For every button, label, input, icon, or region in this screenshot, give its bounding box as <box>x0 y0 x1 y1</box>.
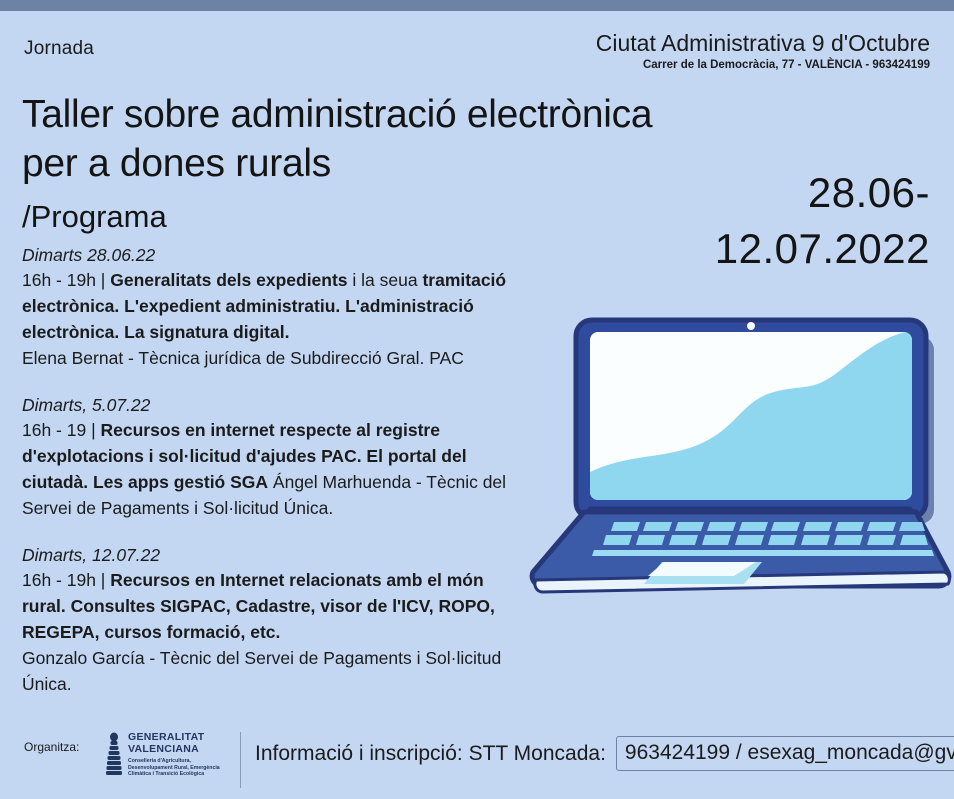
logo-department: Conselleria d'Agricultura, Desenvolupame… <box>128 758 230 778</box>
page-title-line2: per a dones rurals <box>22 142 331 185</box>
session-date: Dimarts, 5.07.22 <box>22 393 512 417</box>
contact-info: Informació i inscripció: STT Moncada: 96… <box>255 736 954 771</box>
organizer-label: Organitza: <box>24 740 79 754</box>
program-session: Dimarts, 5.07.22 16h - 19 | Recursos en … <box>22 393 512 521</box>
session-time: 16h - 19 | <box>22 420 101 440</box>
event-kicker: Jornada <box>24 38 94 60</box>
session-topic-rest: i la seua <box>348 270 418 290</box>
program-heading: /Programa <box>22 199 167 235</box>
webcam-dot <box>747 322 755 330</box>
program-session: Dimarts 28.06.22 16h - 19h | Generalitat… <box>22 243 512 371</box>
page-title-line1: Taller sobre administració electrònica <box>22 93 652 136</box>
footer-divider <box>240 732 241 788</box>
laptop-icon <box>512 300 952 600</box>
program-list: Dimarts 28.06.22 16h - 19h | Generalitat… <box>22 243 512 719</box>
venue-info: Ciutat Administrativa 9 d'Octubre Carrer… <box>596 30 930 73</box>
crest-icon <box>105 732 123 780</box>
session-time: 16h - 19h | <box>22 570 110 590</box>
event-date-end: 12.07.2022 <box>715 225 930 272</box>
session-date: Dimarts, 12.07.22 <box>22 543 512 567</box>
poster-canvas: Jornada Ciutat Administrativa 9 d'Octubr… <box>0 0 954 799</box>
generalitat-valenciana-logo: GENERALITAT VALENCIANA Conselleria d'Agr… <box>105 730 230 790</box>
session-time: 16h - 19h | <box>22 270 110 290</box>
session-speaker: Elena Bernat - Tècnica jurídica de Subdi… <box>22 345 512 371</box>
logo-wordmark: GENERALITAT VALENCIANA Conselleria d'Agr… <box>128 730 230 778</box>
contact-label: Informació i inscripció: STT Moncada: <box>255 739 606 769</box>
program-session: Dimarts, 12.07.22 16h - 19h | Recursos e… <box>22 543 512 697</box>
session-topic: 16h - 19 | Recursos en internet respecte… <box>22 417 512 521</box>
session-topic: 16h - 19h | Generalitats dels expedients… <box>22 267 512 345</box>
session-topic-bold: Generalitats dels expedients <box>110 270 347 290</box>
logo-name-line1: GENERALITAT <box>128 732 230 744</box>
laptop-illustration <box>512 300 952 600</box>
venue-name: Ciutat Administrativa 9 d'Octubre <box>596 30 930 57</box>
contact-value-box[interactable]: 963424199 / esexag_moncada@gva.es <box>616 736 954 771</box>
session-date: Dimarts 28.06.22 <box>22 243 512 267</box>
divider-footer <box>0 8 954 11</box>
event-dates: 28.06- 12.07.2022 <box>600 165 930 277</box>
session-topic: 16h - 19h | Recursos en Internet relacio… <box>22 567 512 645</box>
event-date-start: 28.06- <box>808 169 930 216</box>
session-speaker: Gonzalo García - Tècnic del Servei de Pa… <box>22 645 512 697</box>
spacebar <box>592 550 934 556</box>
logo-name-line2: VALENCIANA <box>128 744 230 756</box>
venue-address: Carrer de la Democràcia, 77 - VALÈNCIA -… <box>596 58 930 73</box>
